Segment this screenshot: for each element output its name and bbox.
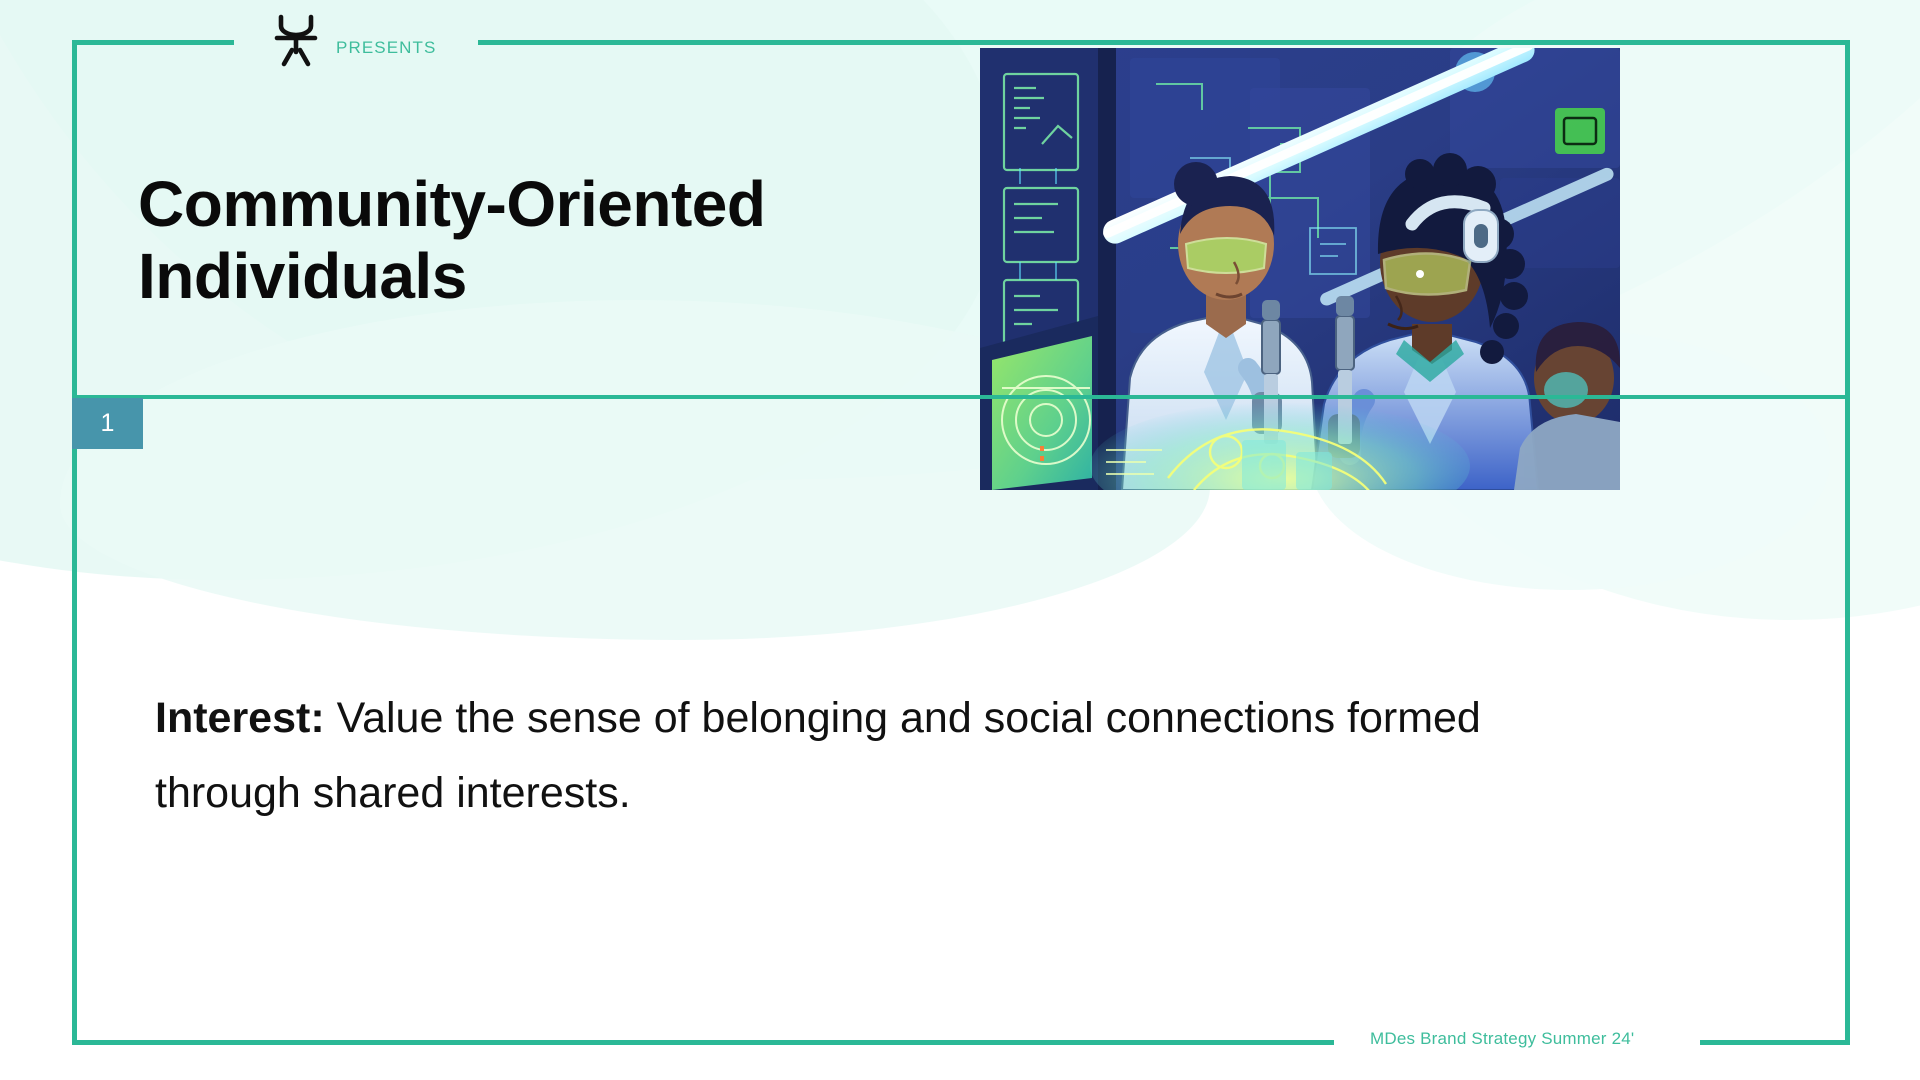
footer-label: MDes Brand Strategy Summer 24' bbox=[1370, 1029, 1634, 1049]
presents-label: PRESENTS bbox=[336, 38, 436, 58]
brand-mark-icon bbox=[272, 12, 320, 72]
slide-canvas: PRESENTS Community-Oriented Individuals … bbox=[0, 0, 1920, 1080]
frame-border-top-left bbox=[72, 40, 234, 45]
frame-border-bottom-left bbox=[72, 1040, 1334, 1045]
body-paragraph: Interest: Value the sense of belonging a… bbox=[155, 681, 1555, 832]
hero-illustration bbox=[980, 48, 1620, 490]
frame-border-left bbox=[72, 40, 77, 1045]
frame-divider-line bbox=[72, 395, 1850, 399]
slide-number-badge: 1 bbox=[72, 398, 143, 449]
background-decoration bbox=[0, 0, 1920, 1080]
page-title: Community-Oriented Individuals bbox=[138, 169, 898, 312]
slide-number-value: 1 bbox=[101, 409, 115, 438]
body-lead-label: Interest: bbox=[155, 694, 325, 742]
frame-border-right bbox=[1845, 40, 1850, 1045]
frame-border-bottom-right bbox=[1700, 1040, 1850, 1045]
frame-border-top-right bbox=[478, 40, 1850, 45]
body-text: Value the sense of belonging and social … bbox=[155, 694, 1481, 817]
